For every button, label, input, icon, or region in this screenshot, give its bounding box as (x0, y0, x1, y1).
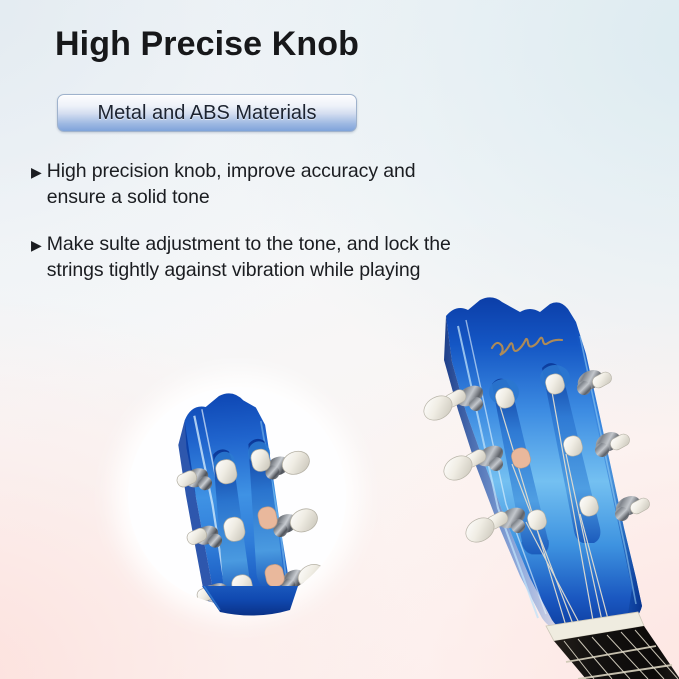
triangle-bullet-icon: ▶ (31, 159, 42, 185)
feature-bullet-list: ▶ High precision knob, improve accuracy … (31, 158, 451, 304)
triangle-bullet-icon: ▶ (31, 232, 42, 258)
page-title: High Precise Knob (55, 26, 359, 63)
headstock-body-zoom (170, 387, 333, 605)
list-item: ▶ High precision knob, improve accuracy … (31, 158, 451, 210)
guitar-headstock-main (380, 296, 679, 679)
list-item: ▶ Make sulte adjustment to the tone, and… (31, 231, 451, 283)
tuning-machine-zoom-right-2 (271, 504, 322, 538)
bullet-text: Make sulte adjustment to the tone, and l… (47, 231, 451, 283)
materials-badge: Metal and ABS Materials (57, 94, 357, 132)
tuning-machine-right-3 (612, 492, 651, 521)
bullet-text: High precision knob, improve accuracy an… (47, 158, 451, 210)
headstock-zoom-inset (128, 387, 346, 605)
product-feature-graphic: High Precise Knob Metal and ABS Material… (0, 0, 679, 679)
headstock-zoom-overflow (186, 586, 326, 636)
materials-badge-label: Metal and ABS Materials (98, 102, 317, 125)
headstock-zoom-art (128, 387, 346, 605)
